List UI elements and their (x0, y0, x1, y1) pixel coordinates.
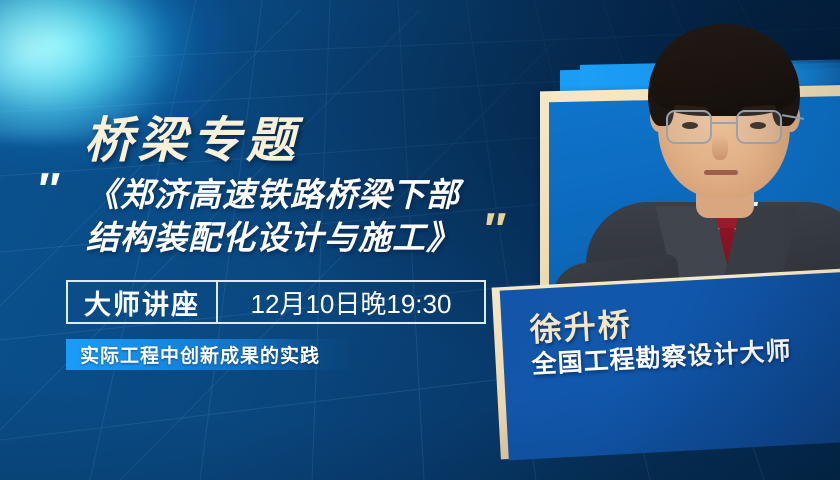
lecture-datetime: 12月10日晚19:30 (218, 282, 484, 322)
lecture-title-line2: 结构装配化设计与施工》 (86, 217, 496, 260)
page-title: 桥梁专题 (84, 101, 300, 172)
lecture-badge-label: 大师讲座 (68, 282, 218, 322)
poster-canvas: 徐升桥 全国工程勘察设计大师 桥梁专题 ″ ″ 《郑济高速铁路桥梁下部 结构装配… (0, 0, 840, 480)
lecture-info-box: 大师讲座 12月10日晚19:30 (66, 280, 486, 324)
portrait-hair (650, 24, 798, 116)
nameplate-panel: 徐升桥 全国工程勘察设计大师 (500, 272, 840, 461)
portrait-mouth (704, 170, 738, 175)
lecture-title-line1: 《郑济高速铁路桥梁下部 (86, 174, 496, 217)
tagline-banner: 实际工程中创新成果的实践 (66, 339, 354, 370)
portrait-glasses-right (736, 110, 782, 144)
portrait-glasses-bridge (712, 122, 736, 124)
portrait-glasses-left (666, 110, 712, 144)
lecture-title: 《郑济高速铁路桥梁下部 结构装配化设计与施工》 (86, 174, 496, 260)
tagline-text: 实际工程中创新成果的实践 (66, 341, 320, 368)
quote-open-icon: ″ (36, 166, 58, 212)
portrait-nose (712, 134, 728, 160)
